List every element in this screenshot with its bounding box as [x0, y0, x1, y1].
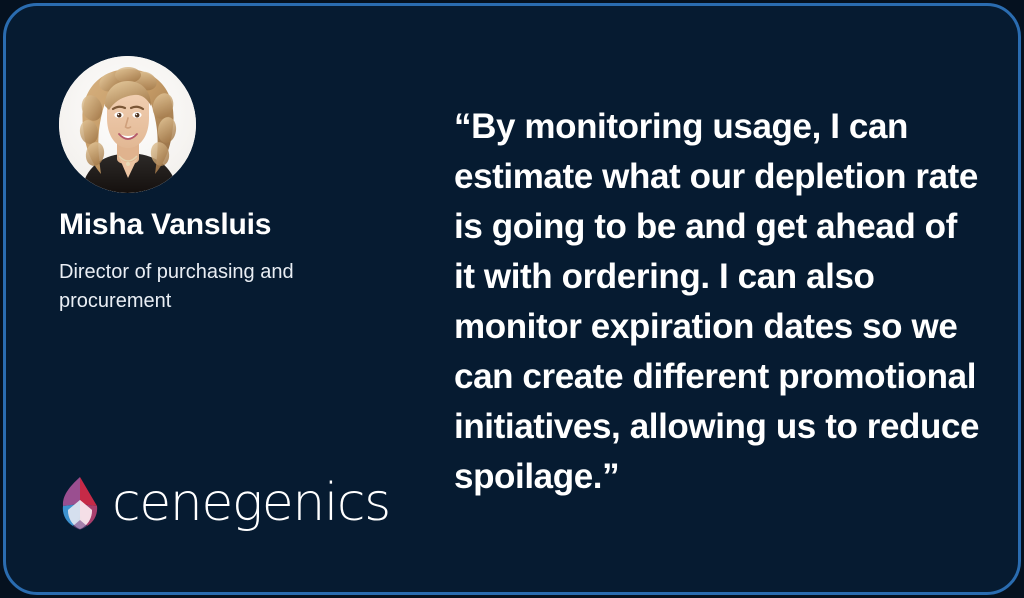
person-name: Misha Vansluis [59, 208, 271, 243]
droplet-icon [59, 476, 101, 530]
testimonial-quote: “By monitoring usage, I can estimate wha… [454, 102, 984, 502]
brand-logo: cenegenics [59, 476, 390, 530]
avatar [59, 56, 196, 193]
avatar-portrait-image [59, 56, 196, 193]
brand-wordmark: cenegenics [112, 477, 390, 529]
card-inner: Misha Vansluis Director of purchasing an… [6, 6, 1018, 592]
person-role: Director of purchasing and procurement [59, 258, 369, 316]
person-column: Misha Vansluis Director of purchasing an… [56, 6, 436, 592]
testimonial-card: Misha Vansluis Director of purchasing an… [3, 3, 1021, 595]
